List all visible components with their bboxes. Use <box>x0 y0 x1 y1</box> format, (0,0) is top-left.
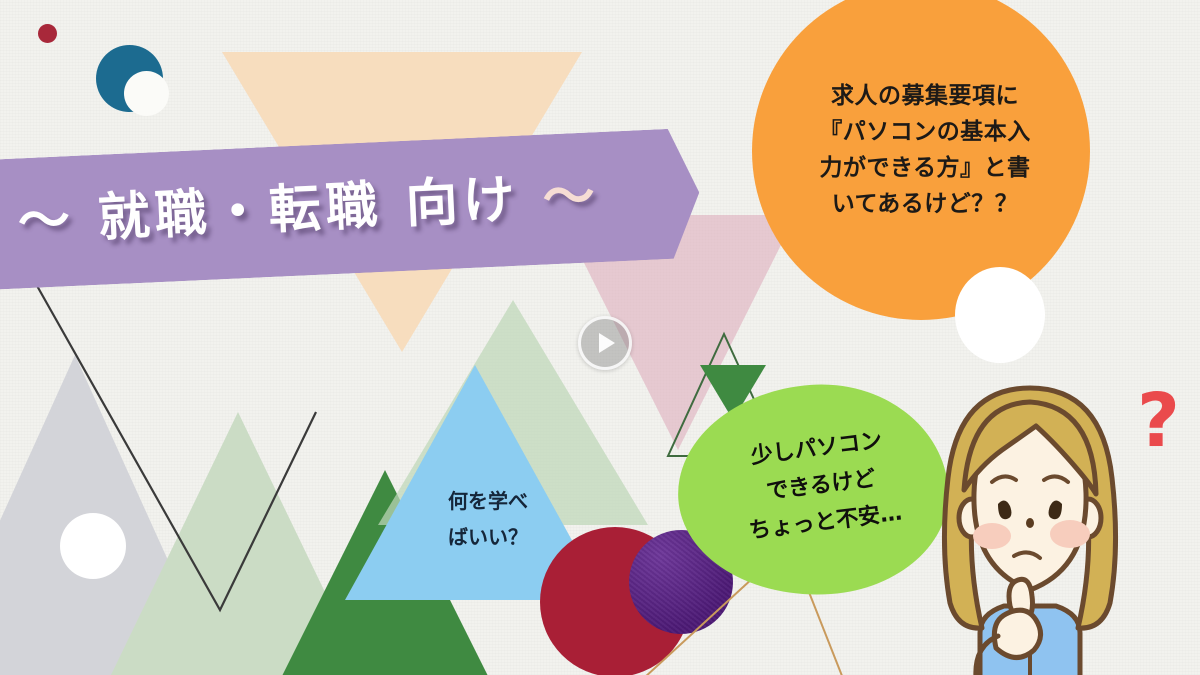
orange-bubble-line-4: いてあるけど？？ <box>790 186 1060 222</box>
blue-triangle-caption: 何を学べ ばいい？ <box>398 483 578 555</box>
thinking-woman-illustration <box>918 378 1142 675</box>
banner-title-main: 〜 就職・転職 向け <box>17 169 544 253</box>
question-mark-icon: ? <box>1137 384 1180 458</box>
caption-line-2: ばいい？ <box>398 519 578 555</box>
play-button[interactable] <box>578 316 632 370</box>
red-dot <box>38 24 57 43</box>
white-circle-on-orange <box>955 267 1045 363</box>
orange-bubble-line-3: 力ができる方』と書 <box>790 150 1060 186</box>
orange-bubble-text: 求人の募集要項に 『パソコンの基本入 力ができる方』と書 いてあるけど？？ <box>790 78 1060 222</box>
caption-line-1: 何を学べ <box>398 483 578 519</box>
white-circle-on-teal <box>124 71 169 116</box>
slide-canvas: 何を学べ ばいい？ 求人の募集要項に 『パソコンの基本入 力ができる方』と書 い… <box>0 0 1200 675</box>
white-circle-on-gray-triangle <box>60 513 126 579</box>
orange-bubble-line-2: 『パソコンの基本入 <box>790 114 1060 150</box>
orange-bubble-line-1: 求人の募集要項に <box>790 78 1060 114</box>
play-icon <box>599 333 615 353</box>
banner-title-tilde: 〜 <box>541 166 601 229</box>
